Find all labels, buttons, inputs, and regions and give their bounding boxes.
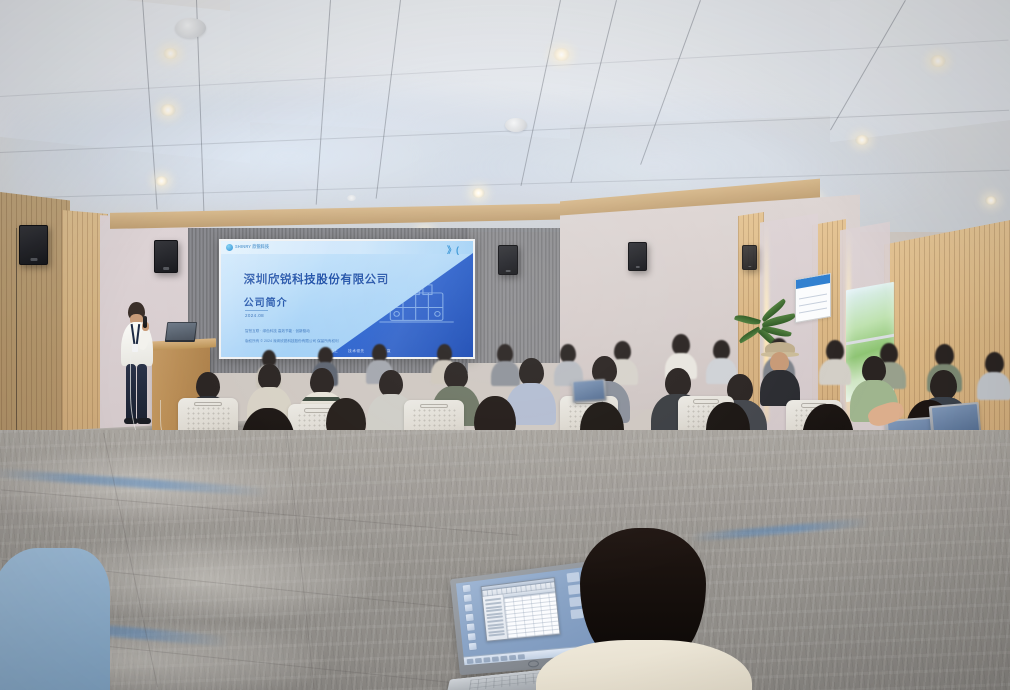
taskbar-item[interactable] — [492, 656, 499, 661]
taskbar-item[interactable] — [518, 654, 525, 660]
hp-logo-icon — [527, 660, 539, 668]
desktop-icon[interactable] — [570, 609, 583, 619]
left-foreground-attendee — [0, 548, 110, 690]
desktop-icon[interactable] — [465, 604, 473, 612]
taskbar-item[interactable] — [509, 654, 516, 660]
desktop-icon[interactable] — [466, 614, 474, 622]
conference-room-photo: SHINRY 欣锐科技 》( — [0, 0, 1010, 690]
desktop-icon[interactable] — [463, 585, 471, 593]
data-grid[interactable] — [504, 592, 560, 638]
desktop-icon[interactable] — [464, 594, 472, 602]
application-window[interactable] — [481, 577, 561, 642]
attendee-laptop[interactable] — [571, 379, 606, 403]
taskbar-item[interactable] — [500, 655, 507, 660]
desktop-icon[interactable] — [468, 633, 476, 640]
desktop-icon[interactable] — [567, 572, 580, 583]
desktop-icon[interactable] — [469, 643, 477, 650]
desktop-icon[interactable] — [568, 584, 581, 595]
taskbar-item[interactable] — [483, 657, 490, 662]
desktop-icon[interactable] — [467, 623, 475, 631]
taskbar-item[interactable] — [467, 658, 474, 663]
taskbar-item[interactable] — [475, 657, 482, 662]
